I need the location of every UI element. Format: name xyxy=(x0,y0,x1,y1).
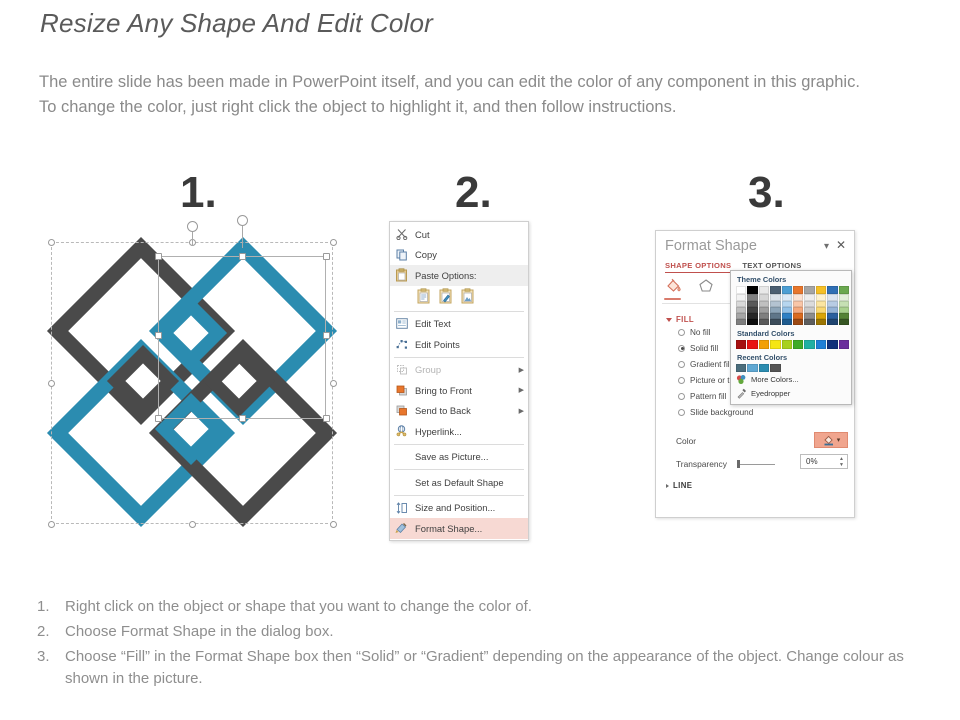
more-colors-label: More Colors... xyxy=(751,375,799,384)
standard-colors-grid[interactable] xyxy=(736,340,846,348)
menu-item-group: Group ▶ xyxy=(390,360,528,381)
color-swatch[interactable] xyxy=(759,340,769,348)
instruction-number: 2. xyxy=(37,621,65,643)
selection-handle-w[interactable] xyxy=(48,380,55,387)
paste-merge-formatting-icon[interactable] xyxy=(438,288,453,305)
rotate-stem-inner xyxy=(242,226,243,248)
instruction-text: Right click on the object or shape that … xyxy=(65,596,937,618)
selection-handle-e[interactable] xyxy=(330,380,337,387)
menu-item-size-and-position-label: Size and Position... xyxy=(415,502,524,513)
more-colors-item[interactable]: More Colors... xyxy=(736,373,846,386)
color-swatch[interactable] xyxy=(827,286,837,294)
chevron-down-icon[interactable]: ▾ xyxy=(824,241,829,252)
color-swatch[interactable] xyxy=(747,364,757,372)
radio-button-icon[interactable] xyxy=(678,361,685,368)
fill-header-label: FILL xyxy=(676,315,694,324)
color-swatch[interactable] xyxy=(747,340,757,348)
color-swatch[interactable] xyxy=(770,340,780,348)
close-icon[interactable]: ✕ xyxy=(836,238,846,252)
selection-handle-ne[interactable] xyxy=(330,239,337,246)
color-swatch[interactable] xyxy=(816,286,826,294)
radio-button-selected-icon[interactable] xyxy=(678,345,685,352)
recent-colors-heading: Recent Colors xyxy=(737,353,846,362)
menu-item-send-to-back[interactable]: Send to Back ▶ xyxy=(390,401,528,422)
menu-item-paste-options[interactable]: Paste Options: xyxy=(390,265,528,286)
more-colors-icon xyxy=(736,374,747,385)
menu-item-edit-text[interactable]: Edit Text xyxy=(390,314,528,335)
theme-colors-heading: Theme Colors xyxy=(737,275,846,284)
menu-item-format-shape[interactable]: Format Shape... xyxy=(390,518,528,539)
line-section-header[interactable]: LINE xyxy=(666,481,692,490)
tab-shape-options[interactable]: SHAPE OPTIONS xyxy=(665,261,731,273)
color-swatch[interactable] xyxy=(759,286,769,294)
selection-handle-se[interactable] xyxy=(330,521,337,528)
color-swatch[interactable] xyxy=(759,364,769,372)
effects-pentagon-icon[interactable] xyxy=(696,277,716,295)
radio-no-fill-label: No fill xyxy=(690,328,710,337)
radio-button-icon[interactable] xyxy=(678,393,685,400)
radio-solid-fill-label: Solid fill xyxy=(690,344,718,353)
menu-separator-1 xyxy=(394,311,524,312)
chevron-right-icon: ▶ xyxy=(519,407,524,415)
menu-item-group-label: Group xyxy=(415,364,515,375)
color-swatch[interactable] xyxy=(759,319,769,325)
recent-colors-grid[interactable] xyxy=(736,364,846,372)
color-row[interactable]: Color ▾ xyxy=(676,436,848,446)
inner-handle-sw[interactable] xyxy=(155,415,162,422)
inner-handle-n[interactable] xyxy=(239,253,246,260)
color-swatch[interactable] xyxy=(736,340,746,348)
eyedropper-icon xyxy=(736,388,747,399)
menu-item-set-as-default-shape[interactable]: Set as Default Shape xyxy=(390,472,528,493)
menu-separator-4 xyxy=(394,469,524,470)
color-swatch[interactable] xyxy=(770,319,780,325)
color-label: Color xyxy=(676,436,696,446)
hyperlink-icon xyxy=(393,424,410,439)
menu-item-edit-points[interactable]: Edit Points xyxy=(390,334,528,355)
radio-slide-background-fill[interactable]: Slide background xyxy=(678,404,753,420)
theme-colors-row[interactable] xyxy=(736,319,846,325)
color-swatch[interactable] xyxy=(839,319,849,325)
menu-separator-2 xyxy=(394,357,524,358)
bring-front-icon xyxy=(393,383,410,398)
color-swatch[interactable] xyxy=(793,340,803,348)
menu-separator-5 xyxy=(394,495,524,496)
theme-colors-row[interactable] xyxy=(736,286,846,294)
no-icon xyxy=(393,475,410,490)
rotate-handle-outer[interactable] xyxy=(187,221,198,232)
intro-paragraph: The entire slide has been made in PowerP… xyxy=(39,70,869,120)
standard-colors-heading: Standard Colors xyxy=(737,329,846,338)
chevron-down-icon[interactable]: ▾ xyxy=(837,436,841,444)
radio-pattern-fill-label: Pattern fill xyxy=(690,392,726,401)
rotate-stem-outer xyxy=(192,232,193,246)
color-swatch[interactable] xyxy=(804,340,814,348)
menu-item-cut-label: Cut xyxy=(415,229,524,240)
menu-item-paste-options-label: Paste Options: xyxy=(415,270,524,281)
inner-handle-w[interactable] xyxy=(155,332,162,339)
menu-item-copy[interactable]: Copy xyxy=(390,245,528,266)
paint-bucket-icon xyxy=(822,434,835,446)
selection-handle-nw[interactable] xyxy=(48,239,55,246)
menu-item-bring-to-front[interactable]: Bring to Front ▶ xyxy=(390,380,528,401)
context-menu[interactable]: Cut Copy Paste Options: Edit Text xyxy=(389,221,529,541)
menu-item-copy-label: Copy xyxy=(415,249,524,260)
eyedropper-item[interactable]: Eyedropper xyxy=(736,387,846,400)
step-number-2: 2. xyxy=(455,168,492,218)
color-swatch[interactable] xyxy=(839,286,849,294)
color-swatch[interactable] xyxy=(793,319,803,325)
scissors-icon xyxy=(393,227,410,242)
collapse-triangle-icon xyxy=(666,484,669,488)
color-swatch[interactable] xyxy=(747,319,757,325)
no-icon xyxy=(393,449,410,464)
color-picker-dropdown[interactable]: Theme Colors Standard Colors Recent Colo… xyxy=(730,270,852,405)
color-swatch[interactable] xyxy=(736,364,746,372)
page-title: Resize Any Shape And Edit Color xyxy=(40,8,433,39)
radio-slide-background-label: Slide background xyxy=(690,408,753,417)
eyedropper-label: Eyedropper xyxy=(751,389,790,398)
color-swatch[interactable] xyxy=(839,340,849,348)
radio-button-icon[interactable] xyxy=(678,329,685,336)
menu-item-hyperlink-label: Hyperlink... xyxy=(415,426,524,437)
menu-item-save-as-picture[interactable]: Save as Picture... xyxy=(390,447,528,468)
color-swatch[interactable] xyxy=(782,340,792,348)
instruction-item: 1. Right click on the object or shape th… xyxy=(37,596,937,618)
menu-item-format-shape-label: Format Shape... xyxy=(415,523,524,534)
color-swatch[interactable] xyxy=(782,319,792,325)
expand-triangle-icon xyxy=(666,318,672,322)
transparency-row[interactable]: Transparency 0% ▲▼ xyxy=(676,459,848,469)
menu-item-cut[interactable]: Cut xyxy=(390,224,528,245)
radio-gradient-fill-label: Gradient fill xyxy=(690,360,731,369)
rotate-handle-inner[interactable] xyxy=(237,215,248,226)
menu-item-send-to-back-label: Send to Back xyxy=(415,405,515,416)
size-position-icon xyxy=(393,500,410,515)
edit-text-icon xyxy=(393,316,410,331)
format-shape-title: Format Shape xyxy=(665,238,757,254)
color-swatch[interactable] xyxy=(827,319,837,325)
menu-item-bring-to-front-label: Bring to Front xyxy=(415,385,515,396)
chevron-right-icon: ▶ xyxy=(519,386,524,394)
color-swatch[interactable] xyxy=(827,340,837,348)
menu-item-size-and-position[interactable]: Size and Position... xyxy=(390,498,528,519)
step-number-3: 3. xyxy=(748,168,785,218)
color-swatch[interactable] xyxy=(770,364,780,372)
menu-item-set-as-default-shape-label: Set as Default Shape xyxy=(415,477,524,488)
instruction-text: Choose Format Shape in the dialog box. xyxy=(65,621,937,643)
color-swatch[interactable] xyxy=(816,340,826,348)
color-swatch[interactable] xyxy=(793,286,803,294)
instruction-text: Choose “Fill” in the Format Shape box th… xyxy=(65,646,937,690)
inner-handle-nw[interactable] xyxy=(155,253,162,260)
radio-button-icon[interactable] xyxy=(678,409,685,416)
chevron-right-icon: ▶ xyxy=(519,366,524,374)
slider-thumb[interactable] xyxy=(737,460,740,468)
instruction-item: 3. Choose “Fill” in the Format Shape box… xyxy=(37,646,937,690)
paste-picture-icon[interactable] xyxy=(460,288,475,305)
color-swatch[interactable] xyxy=(804,286,814,294)
instruction-list: 1. Right click on the object or shape th… xyxy=(37,596,937,693)
color-swatch[interactable] xyxy=(736,286,746,294)
paste-icon xyxy=(393,268,410,283)
selection-handle-sw[interactable] xyxy=(48,521,55,528)
active-icon-underline xyxy=(664,298,681,300)
color-swatch[interactable] xyxy=(804,319,814,325)
instruction-number: 3. xyxy=(37,646,65,690)
format-shape-icon xyxy=(393,521,410,536)
slider-track xyxy=(739,464,775,465)
inner-handle-se[interactable] xyxy=(323,415,330,422)
radio-button-icon[interactable] xyxy=(678,377,685,384)
send-back-icon xyxy=(393,403,410,418)
selection-handle-s[interactable] xyxy=(189,521,196,528)
color-swatch[interactable] xyxy=(782,286,792,294)
line-header-label: LINE xyxy=(673,481,692,490)
inner-handle-e[interactable] xyxy=(323,332,330,339)
menu-item-save-as-picture-label: Save as Picture... xyxy=(415,451,524,462)
inner-handle-ne[interactable] xyxy=(323,253,330,260)
group-icon xyxy=(393,362,410,377)
copy-icon xyxy=(393,247,410,262)
paste-keep-formatting-icon[interactable] xyxy=(416,288,431,305)
step-number-1: 1. xyxy=(180,168,217,218)
paste-options-row[interactable] xyxy=(390,286,528,309)
edit-points-icon xyxy=(393,337,410,352)
instruction-item: 2. Choose Format Shape in the dialog box… xyxy=(37,621,937,643)
color-swatch[interactable] xyxy=(816,319,826,325)
instruction-number: 1. xyxy=(37,596,65,618)
color-swatch[interactable] xyxy=(736,319,746,325)
transparency-input[interactable]: 0% ▲▼ xyxy=(800,454,848,469)
menu-item-edit-text-label: Edit Text xyxy=(415,318,524,329)
color-swatch[interactable] xyxy=(747,286,757,294)
theme-colors-grid[interactable] xyxy=(736,286,846,325)
fill-bucket-icon[interactable] xyxy=(664,277,684,295)
inner-handle-s[interactable] xyxy=(239,415,246,422)
transparency-slider[interactable] xyxy=(735,459,775,469)
shape-graphic-panel[interactable] xyxy=(44,234,340,530)
transparency-value: 0% xyxy=(806,457,818,466)
inner-selection-frame[interactable] xyxy=(158,256,326,419)
menu-item-edit-points-label: Edit Points xyxy=(415,339,524,350)
menu-separator-3 xyxy=(394,444,524,445)
color-swatch-button[interactable]: ▾ xyxy=(814,432,848,448)
menu-item-hyperlink[interactable]: Hyperlink... xyxy=(390,421,528,442)
spinner-arrows-icon[interactable]: ▲▼ xyxy=(839,456,844,468)
color-swatch[interactable] xyxy=(770,286,780,294)
transparency-label: Transparency xyxy=(676,459,727,469)
